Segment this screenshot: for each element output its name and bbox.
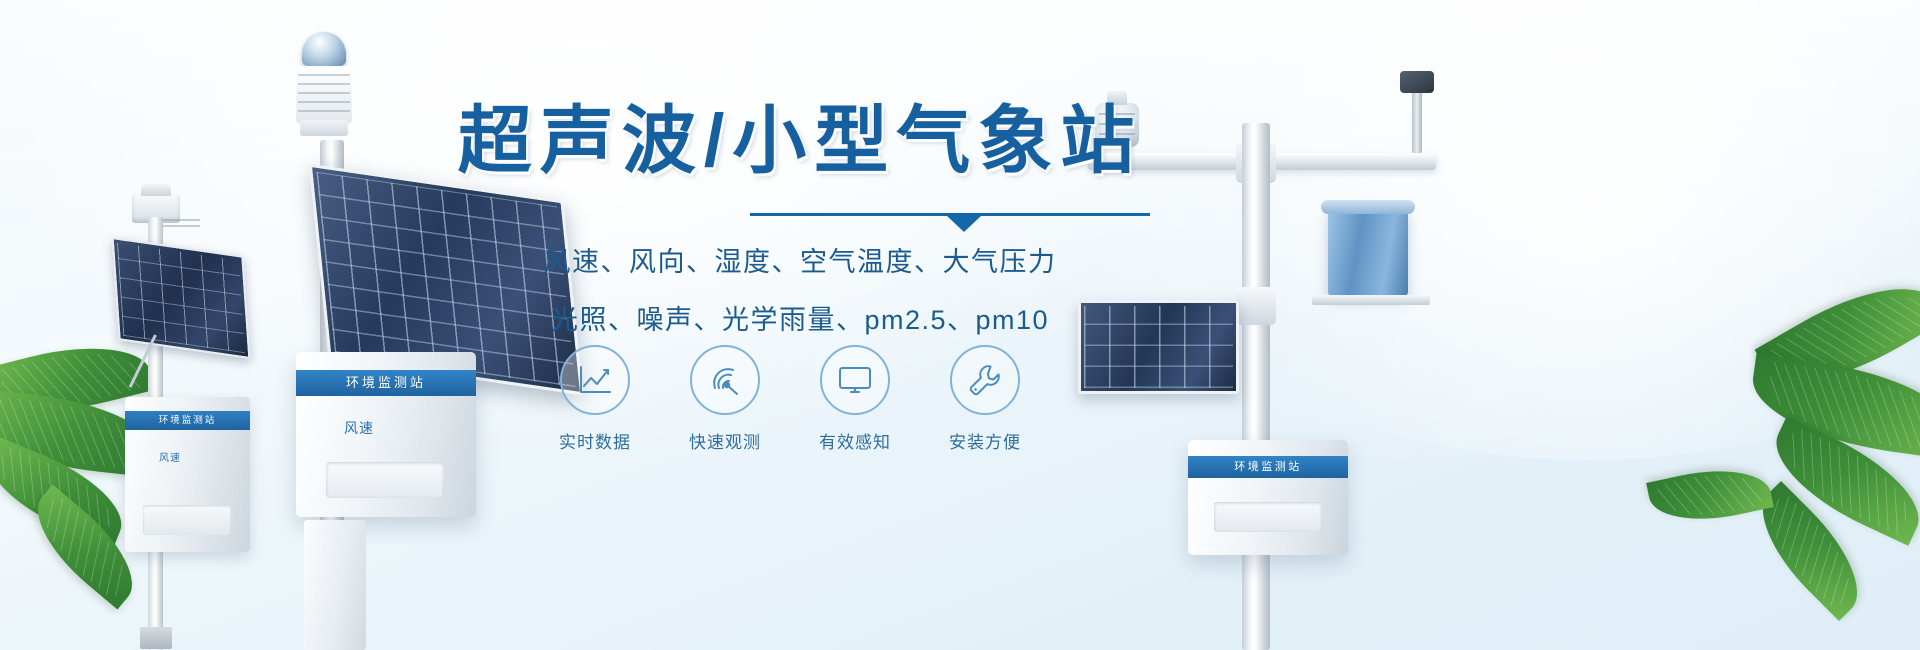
wind-vane-sensor [1412,87,1422,153]
feature-icon-circle [820,345,890,415]
mast-base [140,627,172,649]
radar-signal-icon [708,363,742,397]
feature-item-fast-observation[interactable]: 快速观测 [670,345,780,453]
feature-item-realtime-data[interactable]: 实时数据 [540,345,650,453]
cabinet-label: 环境监测站 [1188,456,1348,478]
monitor-icon [838,365,872,395]
feature-item-effective-sensing[interactable]: 有效感知 [800,345,910,453]
cabinet-label: 环境监测站 [296,370,476,396]
control-cabinet: 环境监测站 风速 [296,352,476,517]
cabinet-vent [326,462,444,498]
brand-logo: 风速 [344,418,374,438]
leaf-decoration [1646,458,1774,532]
solar-panel [112,237,251,359]
cabinet-vent [1214,502,1322,532]
control-cabinet: 环境监测站 风速 [125,397,250,552]
feature-icon-circle [560,345,630,415]
cabinet-label-bar: 环境监测站 [125,411,250,430]
solar-cell-grid [117,243,245,353]
arm-clamp [1236,287,1276,325]
lower-equipment-box [304,520,366,650]
feature-icon-circle [950,345,1020,415]
feature-item-easy-installation[interactable]: 安装方便 [930,345,1040,453]
cabinet-label-bar: 环境监测站 [1188,456,1348,478]
banner-text-block: 超声波/小型气象站 风速、风向、湿度、空气温度、大气压力 光照、噪声、光学雨量、… [440,100,1160,342]
feature-label: 快速观测 [670,428,780,453]
rain-gauge [1328,208,1408,296]
mast-pole [1242,123,1270,650]
banner-title: 超声波/小型气象站 [440,100,1160,183]
banner-subtitle-line-1: 风速、风向、湿度、空气温度、大气压力 [440,241,1160,285]
product-banner: 环境监测站 风速 环境监测站 风速 [0,0,1920,650]
feature-label: 有效感知 [800,428,910,453]
gauge-shelf [1312,295,1430,305]
control-cabinet: 环境监测站 [1188,440,1348,555]
cabinet-vent [143,505,231,535]
wrench-icon [968,363,1002,397]
feature-list: 实时数据 快速观测 [540,345,1040,453]
radiation-shield-stack [296,66,352,124]
feature-label: 实时数据 [540,428,650,453]
radiation-dome-sensor [302,32,346,66]
banner-subtitle-line-2: 光照、噪声、光学雨量、pm2.5、pm10 [440,299,1160,343]
divider-triangle-icon [947,216,981,232]
feature-icon-circle [690,345,760,415]
cabinet-label: 环境监测站 [125,411,250,430]
shield-cap [300,120,348,136]
title-divider [750,209,1150,227]
cabinet-label-bar: 环境监测站 [296,370,476,396]
line-chart-icon [578,365,612,395]
weather-station-small: 环境监测站 风速 [110,175,280,650]
brand-logo: 风速 [159,449,181,464]
feature-label: 安装方便 [930,428,1040,453]
